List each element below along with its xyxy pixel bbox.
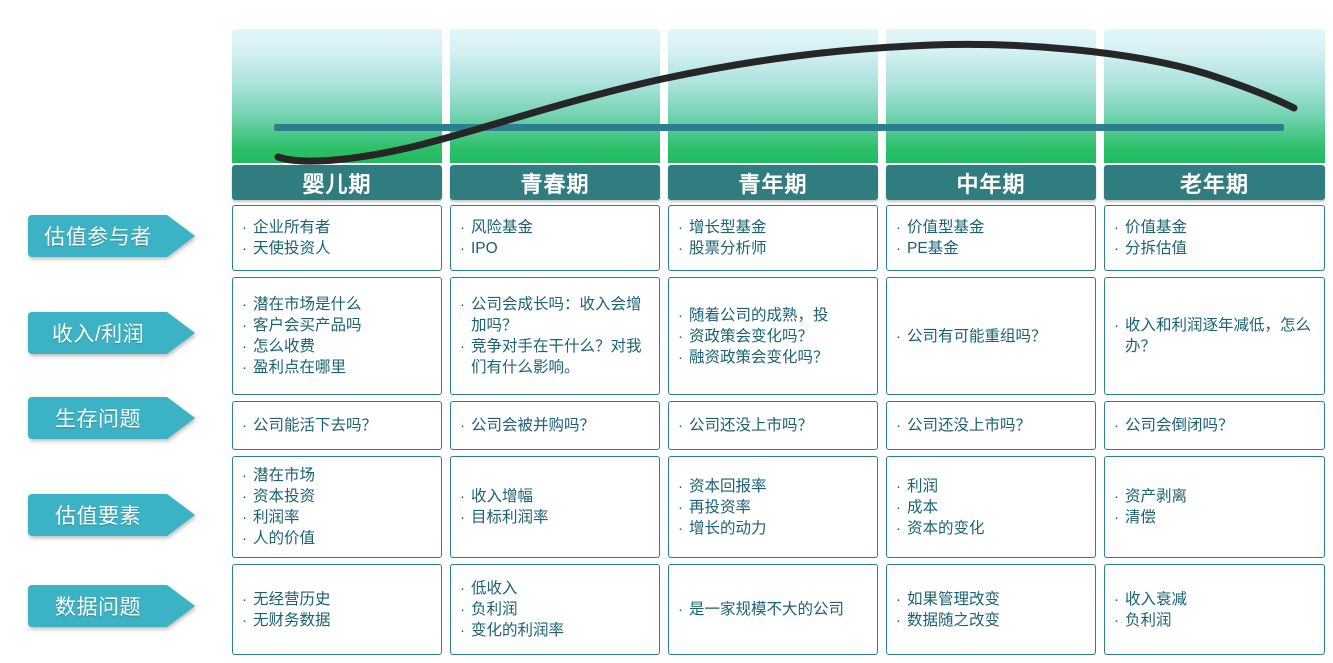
list-item: ·清偿 <box>1114 507 1317 528</box>
row-label-survival-issues[interactable]: 生存问题 <box>27 396 197 440</box>
arrow-shape-icon: 生存问题 <box>27 396 197 440</box>
list-item: ·公司会成长吗：收入会增加吗？ <box>460 294 652 336</box>
bullet-icon: · <box>678 599 689 620</box>
bullet-icon: · <box>242 507 253 528</box>
list-item: ·增长的动力 <box>678 518 870 539</box>
stage-header-text: 婴儿期 <box>302 167 371 199</box>
bullet-icon: · <box>242 589 253 610</box>
list-item: ·如果管理改变 <box>896 589 1088 610</box>
list-item: ·负利润 <box>460 599 652 620</box>
bullet-icon: · <box>460 294 471 315</box>
bullet-icon: · <box>242 336 253 357</box>
list-item: ·资本的变化 <box>896 518 1088 539</box>
list-item: ·分拆估值 <box>1114 238 1317 259</box>
stage-header-infancy: 婴儿期 <box>232 165 442 200</box>
bullet-icon: · <box>1114 507 1125 528</box>
stage-header-row: 婴儿期 青春期 青年期 中年期 老年期 <box>232 165 1325 200</box>
list-item: ·企业所有者 <box>242 217 434 238</box>
list-item: ·利润 <box>896 476 1088 497</box>
bullet-icon: · <box>460 415 471 436</box>
stage-header-text: 老年期 <box>1180 167 1249 199</box>
bullet-icon: · <box>242 294 253 315</box>
bullet-icon: · <box>678 415 689 436</box>
cell-r1-c4: ·收入和利润逐年减低，怎么办？ <box>1104 277 1325 395</box>
bullet-icon: · <box>242 415 253 436</box>
arrow-shape-icon: 估值参与者 <box>27 214 197 258</box>
bullet-icon: · <box>896 238 907 259</box>
list-item: ·成本 <box>896 497 1088 518</box>
cell-r4-c3: ·如果管理改变 ·数据随之改变 <box>886 564 1096 655</box>
list-item: ·潜在市场 <box>242 465 434 486</box>
bullet-icon: · <box>242 217 253 238</box>
list-item: ·收入衰减 <box>1114 589 1317 610</box>
cell-r1-c1: ·公司会成长吗：收入会增加吗？ ·竞争对手在干什么？对我们有什么影响。 <box>450 277 660 395</box>
cell-r3-c1: ·收入增幅 ·目标利润率 <box>450 456 660 558</box>
list-item: ·公司会倒闭吗？ <box>1114 415 1317 436</box>
bullet-icon: · <box>896 415 907 436</box>
bullet-icon: · <box>896 589 907 610</box>
row-label-text: 数据问题 <box>27 584 169 628</box>
cell-r2-c3: ·公司还没上市吗？ <box>886 401 1096 450</box>
row-label-text: 估值参与者 <box>27 214 169 258</box>
bullet-icon: · <box>460 336 471 357</box>
list-item: ·怎么收费 <box>242 336 434 357</box>
matrix-body: ·企业所有者 ·天使投资人 ·风险基金 ·IPO ·增长型基金 ·股票分析师 ·… <box>232 205 1325 657</box>
list-item: ·客户会买产品吗 <box>242 315 434 336</box>
bullet-icon: · <box>460 486 471 507</box>
list-item: ·目标利润率 <box>460 507 652 528</box>
list-item: ·资本投资 <box>242 486 434 507</box>
stage-header-text: 中年期 <box>956 167 1025 199</box>
cell-r4-c2: ·是一家规模不大的公司 <box>668 564 878 655</box>
list-item: ·增长型基金 <box>678 217 870 238</box>
lifecycle-curve-chart <box>232 29 1325 163</box>
bullet-icon: · <box>242 315 253 336</box>
bullet-icon: · <box>242 528 253 549</box>
list-item: ·公司还没上市吗？ <box>896 415 1088 436</box>
arrow-shape-icon: 估值要素 <box>27 493 197 537</box>
list-item: ·公司会被并购吗？ <box>460 415 652 436</box>
bullet-icon: · <box>678 476 689 497</box>
list-item: ·IPO <box>460 238 652 259</box>
cell-r3-c0: ·潜在市场 ·资本投资 ·利润率 ·人的价值 <box>232 456 442 558</box>
arrow-shape-icon: 收入/利润 <box>27 311 197 355</box>
row-label-valuation-factors[interactable]: 估值要素 <box>27 493 197 537</box>
bullet-icon: · <box>678 217 689 238</box>
list-item: ·收入增幅 <box>460 486 652 507</box>
cell-r0-c1: ·风险基金 ·IPO <box>450 205 660 271</box>
list-item: ·风险基金 <box>460 217 652 238</box>
bullet-icon: · <box>896 217 907 238</box>
row-label-column: 估值参与者 收入/利润 生存问题 <box>0 0 232 663</box>
stage-header-text: 青年期 <box>738 167 807 199</box>
list-item: ·资政策会变化吗？ <box>678 326 870 347</box>
list-item: ·盈利点在哪里 <box>242 357 434 378</box>
cell-r4-c0: ·无经营历史 ·无财务数据 <box>232 564 442 655</box>
bullet-icon: · <box>678 518 689 539</box>
list-item: ·无经营历史 <box>242 589 434 610</box>
bullet-icon: · <box>896 610 907 631</box>
curve-overlay <box>232 29 1325 163</box>
list-item: ·随着公司的成熟，投 <box>678 305 870 326</box>
bullet-icon: · <box>678 326 689 347</box>
row-label-valuation-participants[interactable]: 估值参与者 <box>27 214 197 258</box>
row-label-revenue-profit[interactable]: 收入/利润 <box>27 311 197 355</box>
bullet-icon: · <box>460 599 471 620</box>
bullet-icon: · <box>896 476 907 497</box>
arrow-shape-icon: 数据问题 <box>27 584 197 628</box>
cell-r3-c4: ·资产剥离 ·清偿 <box>1104 456 1325 558</box>
cell-r0-c0: ·企业所有者 ·天使投资人 <box>232 205 442 271</box>
list-item: ·竞争对手在干什么？对我们有什么影响。 <box>460 336 652 378</box>
stage-header-old-age: 老年期 <box>1104 165 1325 200</box>
list-item: ·公司有可能重组吗？ <box>896 326 1088 347</box>
stage-header-text: 青春期 <box>520 167 589 199</box>
cell-r0-c2: ·增长型基金 ·股票分析师 <box>668 205 878 271</box>
list-item: ·融资政策会变化吗？ <box>678 347 870 368</box>
cell-r1-c3: ·公司有可能重组吗？ <box>886 277 1096 395</box>
list-item: ·数据随之改变 <box>896 610 1088 631</box>
row-label-data-issues[interactable]: 数据问题 <box>27 584 197 628</box>
bullet-icon: · <box>678 497 689 518</box>
list-item: ·PE基金 <box>896 238 1088 259</box>
list-item: ·股票分析师 <box>678 238 870 259</box>
list-item: ·利润率 <box>242 507 434 528</box>
baseline-bar <box>274 124 1284 131</box>
bullet-icon: · <box>242 238 253 259</box>
list-item: ·是一家规模不大的公司 <box>678 599 870 620</box>
bullet-icon: · <box>1114 589 1125 610</box>
bullet-icon: · <box>1114 415 1125 436</box>
cell-r0-c4: ·价值基金 ·分拆估值 <box>1104 205 1325 271</box>
bullet-icon: · <box>896 518 907 539</box>
list-item: ·无财务数据 <box>242 610 434 631</box>
bullet-icon: · <box>678 238 689 259</box>
row-label-text: 收入/利润 <box>27 311 169 355</box>
bullet-icon: · <box>460 217 471 238</box>
bullet-icon: · <box>1114 486 1125 507</box>
cell-r2-c1: ·公司会被并购吗？ <box>450 401 660 450</box>
list-item: ·资产剥离 <box>1114 486 1317 507</box>
bullet-icon: · <box>896 497 907 518</box>
list-item: ·价值基金 <box>1114 217 1317 238</box>
list-item: ·再投资率 <box>678 497 870 518</box>
bullet-icon: · <box>460 507 471 528</box>
bullet-icon: · <box>1114 238 1125 259</box>
cell-r1-c2: ·随着公司的成熟，投 ·资政策会变化吗？ ·融资政策会变化吗？ <box>668 277 878 395</box>
stage-header-adolescence: 青春期 <box>450 165 660 200</box>
cell-r4-c4: ·收入衰减 ·负利润 <box>1104 564 1325 655</box>
cell-r4-c1: ·低收入 ·负利润 ·变化的利润率 <box>450 564 660 655</box>
lifecycle-curve <box>278 44 1294 161</box>
list-item: ·价值型基金 <box>896 217 1088 238</box>
bullet-icon: · <box>242 610 253 631</box>
list-item: ·天使投资人 <box>242 238 434 259</box>
cell-r2-c2: ·公司还没上市吗？ <box>668 401 878 450</box>
bullet-icon: · <box>242 486 253 507</box>
list-item: ·低收入 <box>460 578 652 599</box>
list-item: ·收入和利润逐年减低，怎么办？ <box>1114 315 1317 357</box>
list-item: ·潜在市场是什么 <box>242 294 434 315</box>
list-item: ·公司能活下去吗？ <box>242 415 434 436</box>
bullet-icon: · <box>460 620 471 641</box>
list-item: ·资本回报率 <box>678 476 870 497</box>
lifecycle-matrix-diagram: 估值参与者 收入/利润 生存问题 <box>0 0 1333 663</box>
bullet-icon: · <box>896 326 907 347</box>
list-item: ·人的价值 <box>242 528 434 549</box>
list-item: ·负利润 <box>1114 610 1317 631</box>
cell-r2-c4: ·公司会倒闭吗？ <box>1104 401 1325 450</box>
bullet-icon: · <box>678 305 689 326</box>
row-label-text: 生存问题 <box>27 396 169 440</box>
cell-r1-c0: ·潜在市场是什么 ·客户会买产品吗 ·怎么收费 ·盈利点在哪里 <box>232 277 442 395</box>
bullet-icon: · <box>1114 610 1125 631</box>
bullet-icon: · <box>1114 217 1125 238</box>
bullet-icon: · <box>678 347 689 368</box>
bullet-icon: · <box>242 357 253 378</box>
stage-header-middle-age: 中年期 <box>886 165 1096 200</box>
list-item: ·变化的利润率 <box>460 620 652 641</box>
list-item: ·公司还没上市吗？ <box>678 415 870 436</box>
bullet-icon: · <box>1114 315 1125 336</box>
stage-header-youth: 青年期 <box>668 165 878 200</box>
bullet-icon: · <box>460 238 471 259</box>
bullet-icon: · <box>460 578 471 599</box>
cell-r2-c0: ·公司能活下去吗？ <box>232 401 442 450</box>
cell-r3-c3: ·利润 ·成本 ·资本的变化 <box>886 456 1096 558</box>
bullet-icon: · <box>242 465 253 486</box>
cell-r0-c3: ·价值型基金 ·PE基金 <box>886 205 1096 271</box>
row-label-text: 估值要素 <box>27 493 169 537</box>
cell-r3-c2: ·资本回报率 ·再投资率 ·增长的动力 <box>668 456 878 558</box>
